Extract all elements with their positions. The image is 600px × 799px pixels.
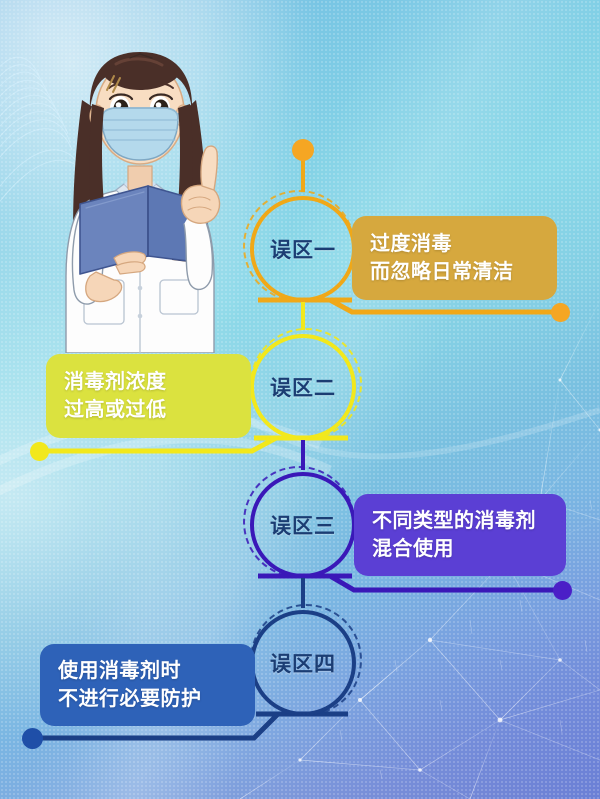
- step-1-text-line-1: 过度消毒: [370, 230, 539, 258]
- step-2-label: 误区二: [270, 372, 336, 402]
- step-1-label: 误区一: [270, 234, 336, 264]
- step-2-text-line-2: 过高或过低: [64, 396, 233, 424]
- endpoint-dot-step-1: [551, 303, 570, 322]
- step-3-text-line-1: 不同类型的消毒剂: [372, 507, 548, 535]
- step-2-text-line-1: 消毒剂浓度: [64, 368, 233, 396]
- step-4-text-line-2: 不进行必要防护: [58, 685, 237, 713]
- step-3-banner[interactable]: 不同类型的消毒剂 混合使用: [354, 494, 566, 576]
- infographic-poster: 误区一 误区二 误区三 误区四 过度消毒 而忽略日常清洁 消毒剂浓度 过高或过低…: [0, 0, 600, 799]
- step-3-label: 误区三: [270, 510, 336, 540]
- step-2-circle[interactable]: 误区二: [250, 334, 356, 440]
- step-3-circle[interactable]: 误区三: [250, 472, 356, 578]
- step-4-circle[interactable]: 误区四: [250, 610, 356, 716]
- step-3-text-line-2: 混合使用: [372, 535, 548, 563]
- step-1-circle[interactable]: 误区一: [250, 196, 356, 302]
- step-1-banner[interactable]: 过度消毒 而忽略日常清洁: [352, 216, 557, 300]
- step-4-label: 误区四: [270, 648, 336, 678]
- step-4-banner[interactable]: 使用消毒剂时 不进行必要防护: [40, 644, 255, 726]
- step-2-banner[interactable]: 消毒剂浓度 过高或过低: [46, 354, 251, 438]
- endpoint-dot-top: [292, 139, 314, 161]
- step-1-text-line-2: 而忽略日常清洁: [370, 258, 539, 286]
- endpoint-dot-step-3: [553, 581, 572, 600]
- endpoint-dot-step-2: [30, 442, 49, 461]
- endpoint-dot-step-4: [22, 728, 43, 749]
- step-4-text-line-1: 使用消毒剂时: [58, 657, 237, 685]
